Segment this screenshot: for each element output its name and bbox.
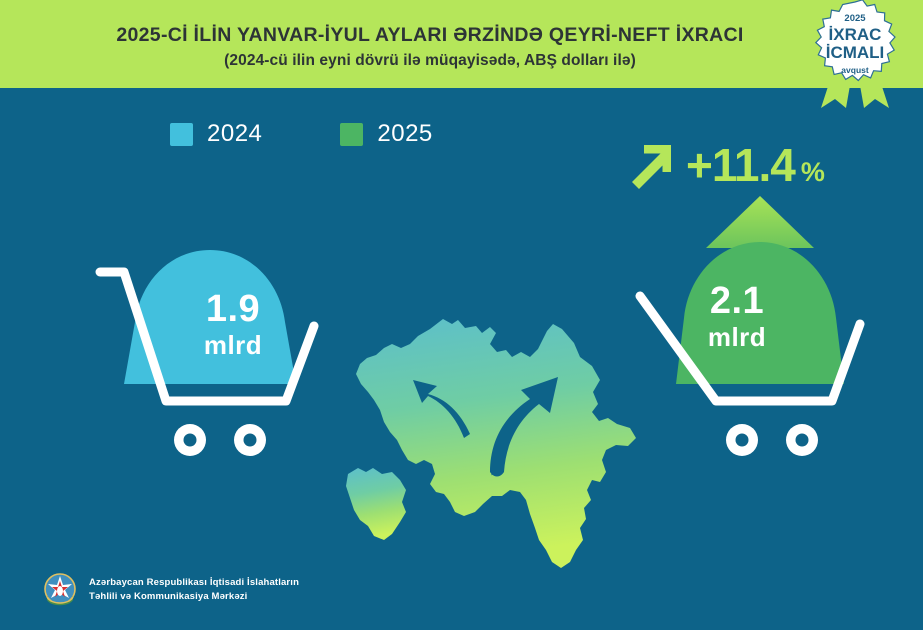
legend-label-2025: 2025 (377, 120, 432, 148)
cart-wheels-2025 (726, 424, 818, 456)
legend-swatch-2025-icon (340, 123, 363, 146)
cart-value-unit-2024: mlrd (168, 332, 298, 359)
cart-value-number-2024: 1.9 (168, 290, 298, 330)
azerbaijan-state-emblem-icon (42, 572, 78, 608)
legend-item-2024: 2024 (170, 120, 262, 148)
legend-label-2024: 2024 (207, 120, 262, 148)
growth-value: +11.4 (686, 142, 795, 188)
azerbaijan-map-icon (340, 300, 640, 585)
legend-swatch-2024-icon (170, 123, 193, 146)
page-subtitle: (2024-cü ilin eyni dövrü ilə müqayisədə,… (0, 52, 860, 70)
footer: Azərbaycan Respublikası İqtisadi İslahat… (42, 572, 299, 608)
ixrac-icmali-badge: 2025 İXRAC İCMALI avqust (790, 0, 920, 108)
azerbaijan-map (340, 300, 640, 585)
arrow-up-right-icon (622, 136, 680, 194)
legend-item-2025: 2025 (340, 120, 432, 148)
footer-line-2: Təhlili və Kommunikasiya Mərkəzi (89, 590, 299, 604)
badge-month: avqust (841, 65, 869, 75)
badge-line1: İXRAC (829, 25, 882, 44)
infographic-canvas: 2025-Cİ İLİN YANVAR-İYUL AYLARI ƏRZİNDƏ … (0, 0, 923, 630)
cart-value-unit-2025: mlrd (672, 324, 802, 351)
header-banner: 2025-Cİ İLİN YANVAR-İYUL AYLARI ƏRZİNDƏ … (0, 0, 923, 88)
badge-line2: İCMALI (826, 43, 885, 62)
page-title: 2025-Cİ İLİN YANVAR-İYUL AYLARI ƏRZİNDƏ … (0, 24, 860, 47)
growth-indicator: +11.4 % (622, 136, 825, 194)
legend: 2024 2025 (170, 120, 433, 148)
badge-year: 2025 (844, 13, 866, 24)
cart-value-2025: 2.1 mlrd (672, 282, 802, 351)
cart-value-2024: 1.9 mlrd (168, 290, 298, 359)
cart-wheels-2024 (174, 424, 266, 456)
growth-percent-symbol: % (801, 159, 825, 186)
footer-line-1: Azərbaycan Respublikası İqtisadi İslahat… (89, 576, 299, 590)
cart-value-number-2025: 2.1 (672, 282, 802, 322)
footer-organization-name: Azərbaycan Respublikası İqtisadi İslahat… (89, 576, 299, 604)
